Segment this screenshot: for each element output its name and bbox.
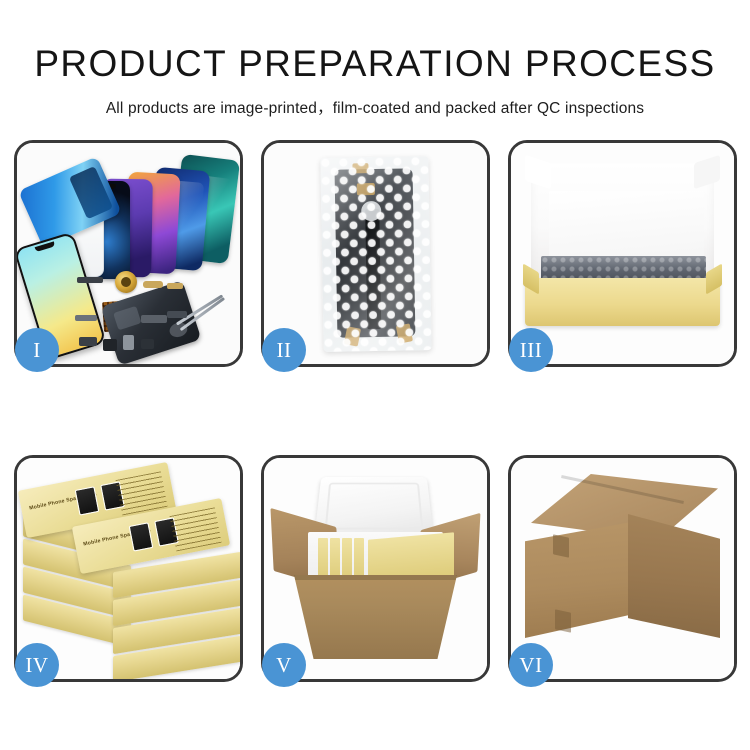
process-step-panel-4[interactable]: Mobile Phone Spare Parts Mobile Phone Sp… <box>14 455 243 682</box>
process-step-grid: I II <box>14 140 736 682</box>
spare-part <box>167 283 183 289</box>
step-2-image <box>264 143 487 364</box>
step-badge-1: I <box>15 328 59 372</box>
carton-tape-upper <box>553 534 569 557</box>
step-1-image <box>17 143 240 364</box>
carton-front-face <box>294 575 457 659</box>
product-preparation-infographic: PRODUCT PREPARATION PROCESS All products… <box>0 0 750 750</box>
carton-right-face <box>628 514 720 638</box>
process-step-panel-5[interactable]: V <box>261 455 490 682</box>
page-subtitle: All products are image-printed，film-coat… <box>0 96 750 118</box>
step-badge-5: V <box>262 643 306 687</box>
step-6-image <box>511 458 734 679</box>
bubble-wrap-package <box>320 156 431 352</box>
spare-part <box>143 281 163 288</box>
process-step-panel-2[interactable]: II <box>261 140 490 367</box>
spare-part <box>103 339 117 351</box>
spare-part <box>123 335 134 350</box>
plastic-sheen <box>320 156 431 352</box>
spare-part <box>79 337 97 346</box>
step-badge-4: IV <box>15 643 59 687</box>
spare-part <box>75 315 97 321</box>
carton-left-face <box>525 520 643 638</box>
step-5-image <box>264 458 487 679</box>
label-text-lines <box>170 507 222 551</box>
process-step-panel-1[interactable]: I <box>14 140 243 367</box>
spare-part <box>141 339 154 349</box>
step-3-image <box>511 143 734 364</box>
spare-part <box>141 315 167 323</box>
process-step-panel-6[interactable]: VI <box>508 455 737 682</box>
box-stack: Mobile Phone Spare Parts Mobile Phone Sp… <box>17 458 240 679</box>
page-title: PRODUCT PREPARATION PROCESS <box>0 44 750 85</box>
open-inner-box <box>525 157 720 334</box>
header: PRODUCT PREPARATION PROCESS All products… <box>0 0 750 118</box>
coil-part-icon <box>115 271 137 293</box>
step-badge-3: III <box>509 328 553 372</box>
process-step-panel-3[interactable]: III <box>508 140 737 367</box>
sealed-shipping-carton <box>525 474 720 655</box>
carton-tape-lower <box>555 609 571 632</box>
open-shipping-carton <box>274 470 477 661</box>
yellow-box-base <box>525 278 720 326</box>
step-badge-6: VI <box>509 643 553 687</box>
spare-part <box>167 311 187 318</box>
step-badge-2: II <box>262 328 306 372</box>
step-4-image: Mobile Phone Spare Parts Mobile Phone Sp… <box>17 458 240 679</box>
spare-part <box>77 277 103 283</box>
